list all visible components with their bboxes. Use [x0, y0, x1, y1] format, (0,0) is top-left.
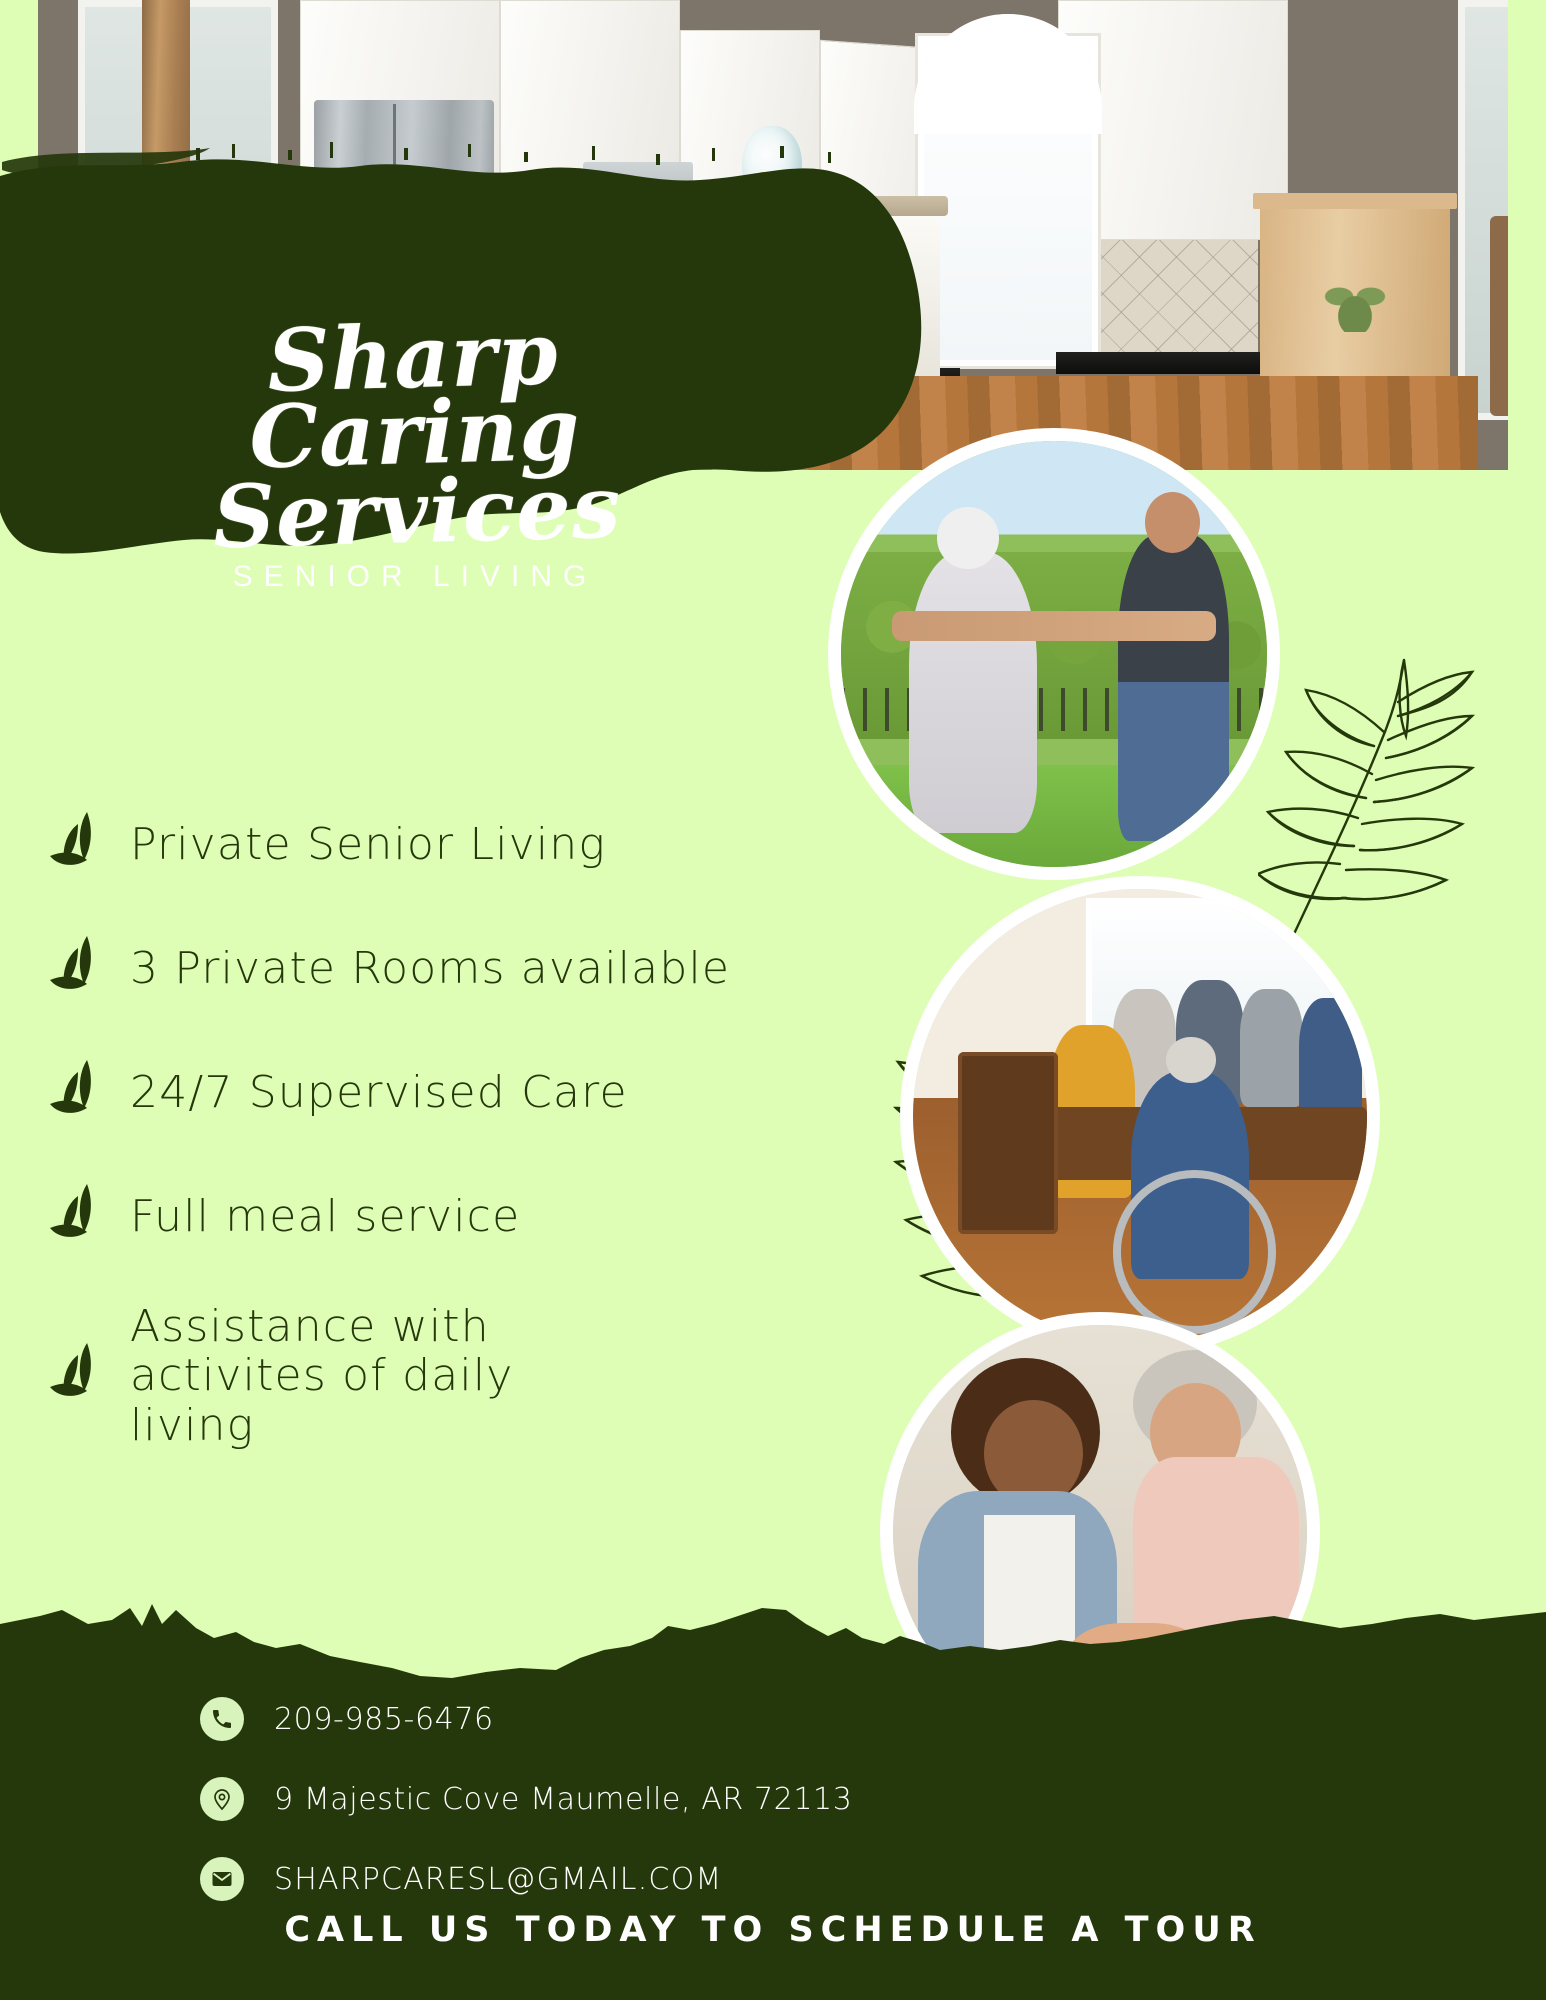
leaf-icon	[40, 1337, 118, 1415]
feature-label: 24/7 Supervised Care	[130, 1068, 628, 1117]
hutch-painted-plant	[1302, 253, 1408, 333]
feature-item: Private Senior Living	[40, 806, 800, 884]
exercise-photo-image	[841, 441, 1267, 867]
leaf-icon	[40, 930, 118, 1008]
hutch-crown	[1253, 193, 1457, 209]
feature-label: Private Senior Living	[130, 820, 606, 869]
photo-wooden-chair	[958, 1052, 1058, 1234]
feature-label: 3 Private Rooms available	[130, 944, 730, 993]
flyer-page: Sharp Caring Services SENIOR LIVING	[0, 0, 1546, 2000]
location-pin-icon	[200, 1777, 244, 1821]
photo-outstretched-arms	[892, 611, 1216, 641]
feature-label: Assistance with activites of daily livin…	[130, 1302, 590, 1450]
contact-email-value: SHARPCARESL@GMAIL.COM	[274, 1862, 722, 1897]
brand-tagline: SENIOR LIVING	[150, 560, 680, 594]
kitchen-chair	[1490, 216, 1508, 416]
feature-item: Full meal service	[40, 1178, 800, 1256]
photo-wheelchair-wheel	[1113, 1170, 1276, 1333]
dining-photo	[900, 876, 1380, 1356]
feature-label: Full meal service	[130, 1192, 520, 1241]
leaf-icon	[40, 806, 118, 884]
photo-elder-figure	[909, 552, 1037, 833]
call-to-action-text: CALL US TODAY TO SCHEDULE A TOUR	[0, 1910, 1546, 1950]
envelope-icon	[200, 1857, 244, 1901]
contact-block: 209-985-6476 9 Majestic Cove Maumelle, A…	[200, 1697, 1200, 1937]
brand-title: Sharp Caring Services	[147, 313, 683, 558]
exercise-photo	[828, 428, 1280, 880]
leaf-icon	[40, 1178, 118, 1256]
dining-photo-image	[913, 889, 1367, 1343]
brand-title-line2: Services	[151, 468, 683, 558]
photo-caregiver-figure	[1118, 535, 1229, 842]
photo-person	[1299, 998, 1363, 1125]
contact-phone-row[interactable]: 209-985-6476	[200, 1697, 1200, 1741]
contact-address-row[interactable]: 9 Majestic Cove Maumelle, AR 72113	[200, 1777, 1200, 1821]
photo-person	[1240, 989, 1304, 1107]
contact-email-row[interactable]: SHARPCARESL@GMAIL.COM	[200, 1857, 1200, 1901]
feature-item: Assistance with activites of daily livin…	[40, 1302, 800, 1450]
feature-item: 24/7 Supervised Care	[40, 1054, 800, 1132]
phone-icon	[200, 1697, 244, 1741]
leaf-icon	[40, 1054, 118, 1132]
contact-address-value: 9 Majestic Cove Maumelle, AR 72113	[274, 1782, 852, 1817]
feature-item: 3 Private Rooms available	[40, 930, 800, 1008]
contact-phone-value: 209-985-6476	[274, 1702, 494, 1737]
kitchen-counter	[1056, 352, 1266, 374]
feature-list: Private Senior Living 3 Private Rooms av…	[40, 806, 800, 1496]
